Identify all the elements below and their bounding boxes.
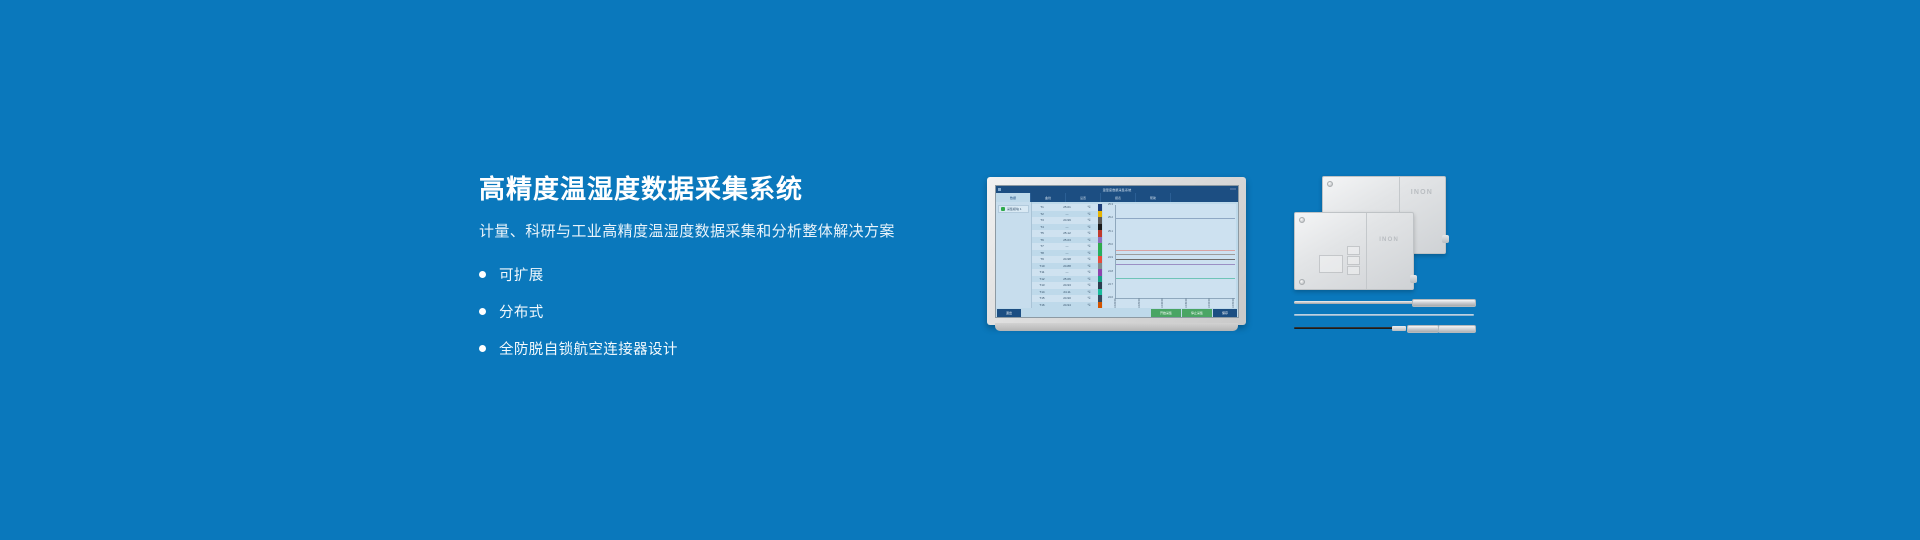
feature-label: 分布式 xyxy=(499,301,544,322)
cell-value: --- xyxy=(1052,225,1082,229)
y-tick-label: 24.8 xyxy=(1108,271,1113,274)
cell-value: 24.93 xyxy=(1052,283,1082,287)
probe-black-cable xyxy=(1294,325,1474,331)
cell-unit: ℃ xyxy=(1082,277,1096,281)
cell-value: --- xyxy=(1052,270,1082,274)
cell-value: 25.01 xyxy=(1052,205,1082,209)
chart-series-line xyxy=(1116,250,1235,251)
cell-channel: T10 xyxy=(1032,264,1052,268)
list-item: 全防脱自锁航空连接器设计 xyxy=(479,338,949,359)
cell-unit: ℃ xyxy=(1082,283,1096,287)
cell-value: 24.11 xyxy=(1052,290,1082,294)
probe-blue-cable xyxy=(1294,312,1474,318)
screw-icon xyxy=(1327,181,1333,187)
cell-unit: ℃ xyxy=(1082,244,1096,248)
screw-icon xyxy=(1299,279,1305,285)
cell-value: 24.94 xyxy=(1052,303,1082,307)
connector-port xyxy=(1442,235,1449,243)
bullet-dot-icon xyxy=(479,271,486,278)
probe-metal xyxy=(1294,299,1474,305)
stop-acquisition-button[interactable]: 停止采集 xyxy=(1182,309,1212,317)
bullet-dot-icon xyxy=(479,308,486,315)
tab-data[interactable]: 数据 xyxy=(996,193,1031,202)
banner-copy: 高精度温湿度数据采集系统 计量、科研与工业高精度温湿度数据采集和分析整体解决方案… xyxy=(479,174,949,375)
action-button-group: 开始采集 停止采集 保存 xyxy=(1151,309,1237,317)
chart-plot-area xyxy=(1115,205,1235,299)
cell-value: 25.03 xyxy=(1052,238,1082,242)
y-tick-label: 24.7 xyxy=(1108,284,1113,287)
y-tick-label: 24.9 xyxy=(1108,257,1113,260)
cell-unit: ℃ xyxy=(1082,257,1096,261)
device-screen: 温湿度数据采集系统 数据 曲线 设置 报表 帮助 采集模块 1 T125.01℃… xyxy=(995,185,1239,318)
x-tick-label: 10:45:00 xyxy=(1233,299,1235,308)
module-status-icon xyxy=(1001,207,1005,211)
tab-settings[interactable]: 设置 xyxy=(1066,193,1101,202)
hardware-modules: INON INON xyxy=(1294,176,1474,291)
cell-unit: ℃ xyxy=(1082,303,1096,307)
cell-channel: T3 xyxy=(1032,218,1052,222)
exit-button[interactable]: 退出 xyxy=(997,309,1021,317)
cell-unit: ℃ xyxy=(1082,251,1096,255)
label-plate xyxy=(1319,255,1343,273)
cell-value: 24.88 xyxy=(1052,264,1082,268)
page-title: 高精度温湿度数据采集系统 xyxy=(479,174,949,205)
start-acquisition-button[interactable]: 开始采集 xyxy=(1151,309,1181,317)
cell-channel: T13 xyxy=(1032,283,1052,287)
window-controls xyxy=(1230,188,1236,190)
screw-icon xyxy=(1299,217,1305,223)
device-tree-pane: 采集模块 1 xyxy=(996,202,1032,308)
cell-channel: T6 xyxy=(1032,238,1052,242)
chart-series-line xyxy=(1116,259,1235,260)
cell-value: 24.98 xyxy=(1052,257,1082,261)
x-tick-label: 10:20:00 xyxy=(1115,299,1117,308)
cell-channel: T16 xyxy=(1032,303,1052,307)
cell-channel: T15 xyxy=(1032,296,1052,300)
x-tick-label: 10:40:00 xyxy=(1209,299,1211,308)
chart-series-line xyxy=(1116,254,1235,255)
cell-channel: T9 xyxy=(1032,257,1052,261)
chart-y-axis: 25.325.225.125.024.924.824.724.6 xyxy=(1103,204,1114,300)
y-tick-label: 25.1 xyxy=(1108,231,1113,234)
software-titlebar: 温湿度数据采集系统 xyxy=(996,186,1238,193)
channel-color-legend xyxy=(1098,204,1102,308)
list-item: 可扩展 xyxy=(479,264,949,285)
page-subtitle: 计量、科研与工业高精度温湿度数据采集和分析整体解决方案 xyxy=(479,221,949,242)
chart-series-line xyxy=(1116,264,1235,265)
cell-value: 24.99 xyxy=(1052,218,1082,222)
cell-unit: ℃ xyxy=(1082,212,1096,216)
x-tick-label: 10:35:00 xyxy=(1186,299,1188,308)
cell-value: --- xyxy=(1052,212,1082,216)
cell-channel: T5 xyxy=(1032,231,1052,235)
cell-unit: ℃ xyxy=(1082,264,1096,268)
panel-pc-device: 温湿度数据采集系统 数据 曲线 设置 报表 帮助 采集模块 1 T125.01℃… xyxy=(987,177,1246,325)
cell-unit: ℃ xyxy=(1082,296,1096,300)
channel-table: T125.01℃T2---℃T324.99℃T4---℃T525.12℃T625… xyxy=(1032,202,1098,308)
feature-label: 可扩展 xyxy=(499,264,544,285)
cell-channel: T8 xyxy=(1032,251,1052,255)
tree-item-label: 采集模块 1 xyxy=(1007,207,1022,211)
cell-unit: ℃ xyxy=(1082,225,1096,229)
cell-value: 24.90 xyxy=(1052,296,1082,300)
y-tick-label: 25.3 xyxy=(1108,204,1113,207)
chart-x-axis: 10:20:0010:25:0010:30:0010:35:0010:40:00… xyxy=(1115,299,1235,308)
cell-unit: ℃ xyxy=(1082,270,1096,274)
tab-curve[interactable]: 曲线 xyxy=(1031,193,1066,202)
product-banner: 高精度温湿度数据采集系统 计量、科研与工业高精度温湿度数据采集和分析整体解决方案… xyxy=(0,0,1920,540)
x-tick-label: 10:30:00 xyxy=(1162,299,1164,308)
bullet-dot-icon xyxy=(479,345,486,352)
y-tick-label: 25.0 xyxy=(1108,244,1113,247)
tab-help[interactable]: 帮助 xyxy=(1136,193,1171,202)
feature-label: 全防脱自锁航空连接器设计 xyxy=(499,338,678,359)
software-body: 采集模块 1 T125.01℃T2---℃T324.99℃T4---℃T525.… xyxy=(996,202,1238,308)
cell-channel: T4 xyxy=(1032,225,1052,229)
tab-report[interactable]: 报表 xyxy=(1101,193,1136,202)
cell-channel: T7 xyxy=(1032,244,1052,248)
y-tick-label: 24.6 xyxy=(1108,297,1113,300)
cell-channel: T14 xyxy=(1032,290,1052,294)
window-title: 温湿度数据采集系统 xyxy=(1103,188,1132,192)
cell-unit: ℃ xyxy=(1082,238,1096,242)
marking-icon xyxy=(1347,256,1360,265)
cell-value: 25.06 xyxy=(1052,277,1082,281)
chart-series-line xyxy=(1116,218,1235,219)
connector-port xyxy=(1410,275,1417,283)
brand-label: INON xyxy=(1379,237,1399,243)
software-bottom-bar: 退出 开始采集 停止采集 保存 xyxy=(996,308,1238,317)
cell-channel: T11 xyxy=(1032,270,1052,274)
cell-unit: ℃ xyxy=(1082,205,1096,209)
save-button[interactable]: 保存 xyxy=(1213,309,1237,317)
cell-unit: ℃ xyxy=(1082,218,1096,222)
list-item: 分布式 xyxy=(479,301,949,322)
tree-item-module[interactable]: 采集模块 1 xyxy=(998,205,1029,213)
cell-value: --- xyxy=(1052,251,1082,255)
cell-channel: T1 xyxy=(1032,205,1052,209)
y-tick-label: 25.2 xyxy=(1108,217,1113,220)
cell-value: --- xyxy=(1052,244,1082,248)
sensor-probes xyxy=(1294,299,1474,349)
marking-icon xyxy=(1347,266,1360,275)
acquisition-module-front: INON xyxy=(1294,212,1414,290)
cell-unit: ℃ xyxy=(1082,231,1096,235)
cell-value: 25.12 xyxy=(1052,231,1082,235)
marking-icon xyxy=(1347,246,1360,255)
trend-chart: 25.325.225.125.024.924.824.724.6 10:20:0… xyxy=(1103,204,1236,308)
x-tick-label: 10:25:00 xyxy=(1139,299,1141,308)
brand-label: INON xyxy=(1411,189,1433,196)
cell-channel: T12 xyxy=(1032,277,1052,281)
feature-list: 可扩展 分布式 全防脱自锁航空连接器设计 xyxy=(479,264,949,359)
chart-series-line xyxy=(1116,278,1235,279)
tab-bar: 数据 曲线 设置 报表 帮助 xyxy=(996,193,1238,202)
cell-unit: ℃ xyxy=(1082,290,1096,294)
cell-channel: T2 xyxy=(1032,212,1052,216)
app-icon xyxy=(998,188,1001,191)
